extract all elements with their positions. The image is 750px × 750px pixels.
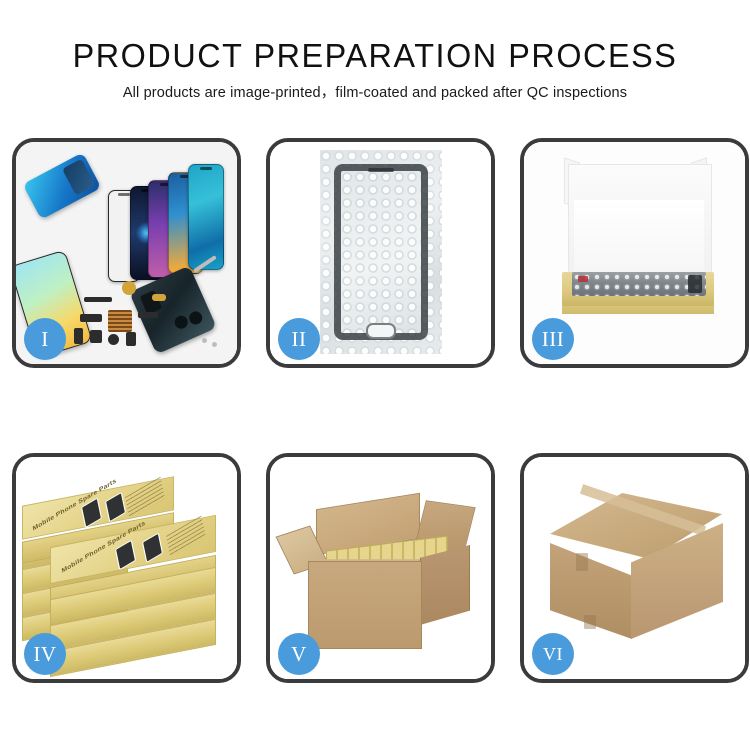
- product-preparation-infographic: PRODUCT PREPARATION PROCESS All products…: [0, 0, 750, 750]
- step-badge-6: VI: [532, 633, 574, 675]
- camera-lens-part: [108, 334, 119, 345]
- foam-insert: [574, 200, 704, 274]
- process-step-3: III: [520, 138, 749, 368]
- box-phone-thumbnail: [142, 533, 163, 564]
- process-step-5: V: [266, 453, 495, 683]
- carton-seam-tab: [584, 615, 596, 629]
- page-subtitle: All products are image-printed，film-coat…: [0, 76, 750, 103]
- flex-cable-part: [84, 297, 112, 302]
- carton-seam-tab: [576, 553, 588, 571]
- wrapped-phone-screen: [334, 164, 428, 340]
- bracket-part: [90, 330, 102, 343]
- step-badge-5: V: [278, 633, 320, 675]
- gold-coil-part: [122, 281, 136, 295]
- screw-part: [212, 342, 217, 347]
- box-phone-thumbnail: [105, 492, 126, 523]
- home-button: [366, 323, 396, 339]
- screw-part: [202, 338, 207, 343]
- speaker-part: [74, 328, 83, 344]
- phone-screen-cyan: [188, 164, 224, 270]
- battery-connector-part: [126, 332, 136, 346]
- ribbon-cable-part: [138, 312, 158, 318]
- step-badge-4: IV: [24, 633, 66, 675]
- carton-side-face: [420, 545, 470, 625]
- step-badge-3: III: [532, 318, 574, 360]
- process-step-6: VI: [520, 453, 749, 683]
- process-step-2: II: [266, 138, 495, 368]
- step-badge-1: I: [24, 318, 66, 360]
- chip-grid-part: [108, 310, 132, 332]
- carton-front-face: [308, 561, 422, 649]
- process-step-1: I: [12, 138, 241, 368]
- box-phone-thumbnail: [115, 539, 136, 570]
- process-step-grid: I II: [12, 138, 740, 683]
- blue-screen-part: [23, 152, 102, 219]
- step-badge-2: II: [278, 318, 320, 360]
- gold-connector-part: [152, 294, 166, 301]
- bubble-wrap-film: [320, 150, 442, 354]
- process-step-4: Mobile Phone Spare Parts Mobile Phone Sp…: [12, 453, 241, 683]
- page-title: PRODUCT PREPARATION PROCESS: [8, 0, 743, 76]
- phone-screen-fan: [100, 160, 237, 272]
- box-label-text: Mobile Phone Spare Parts: [32, 478, 117, 533]
- header: PRODUCT PREPARATION PROCESS All products…: [0, 0, 750, 103]
- packed-screen: [572, 272, 706, 296]
- box-spec-lines: [125, 476, 165, 518]
- small-module-part: [80, 314, 102, 322]
